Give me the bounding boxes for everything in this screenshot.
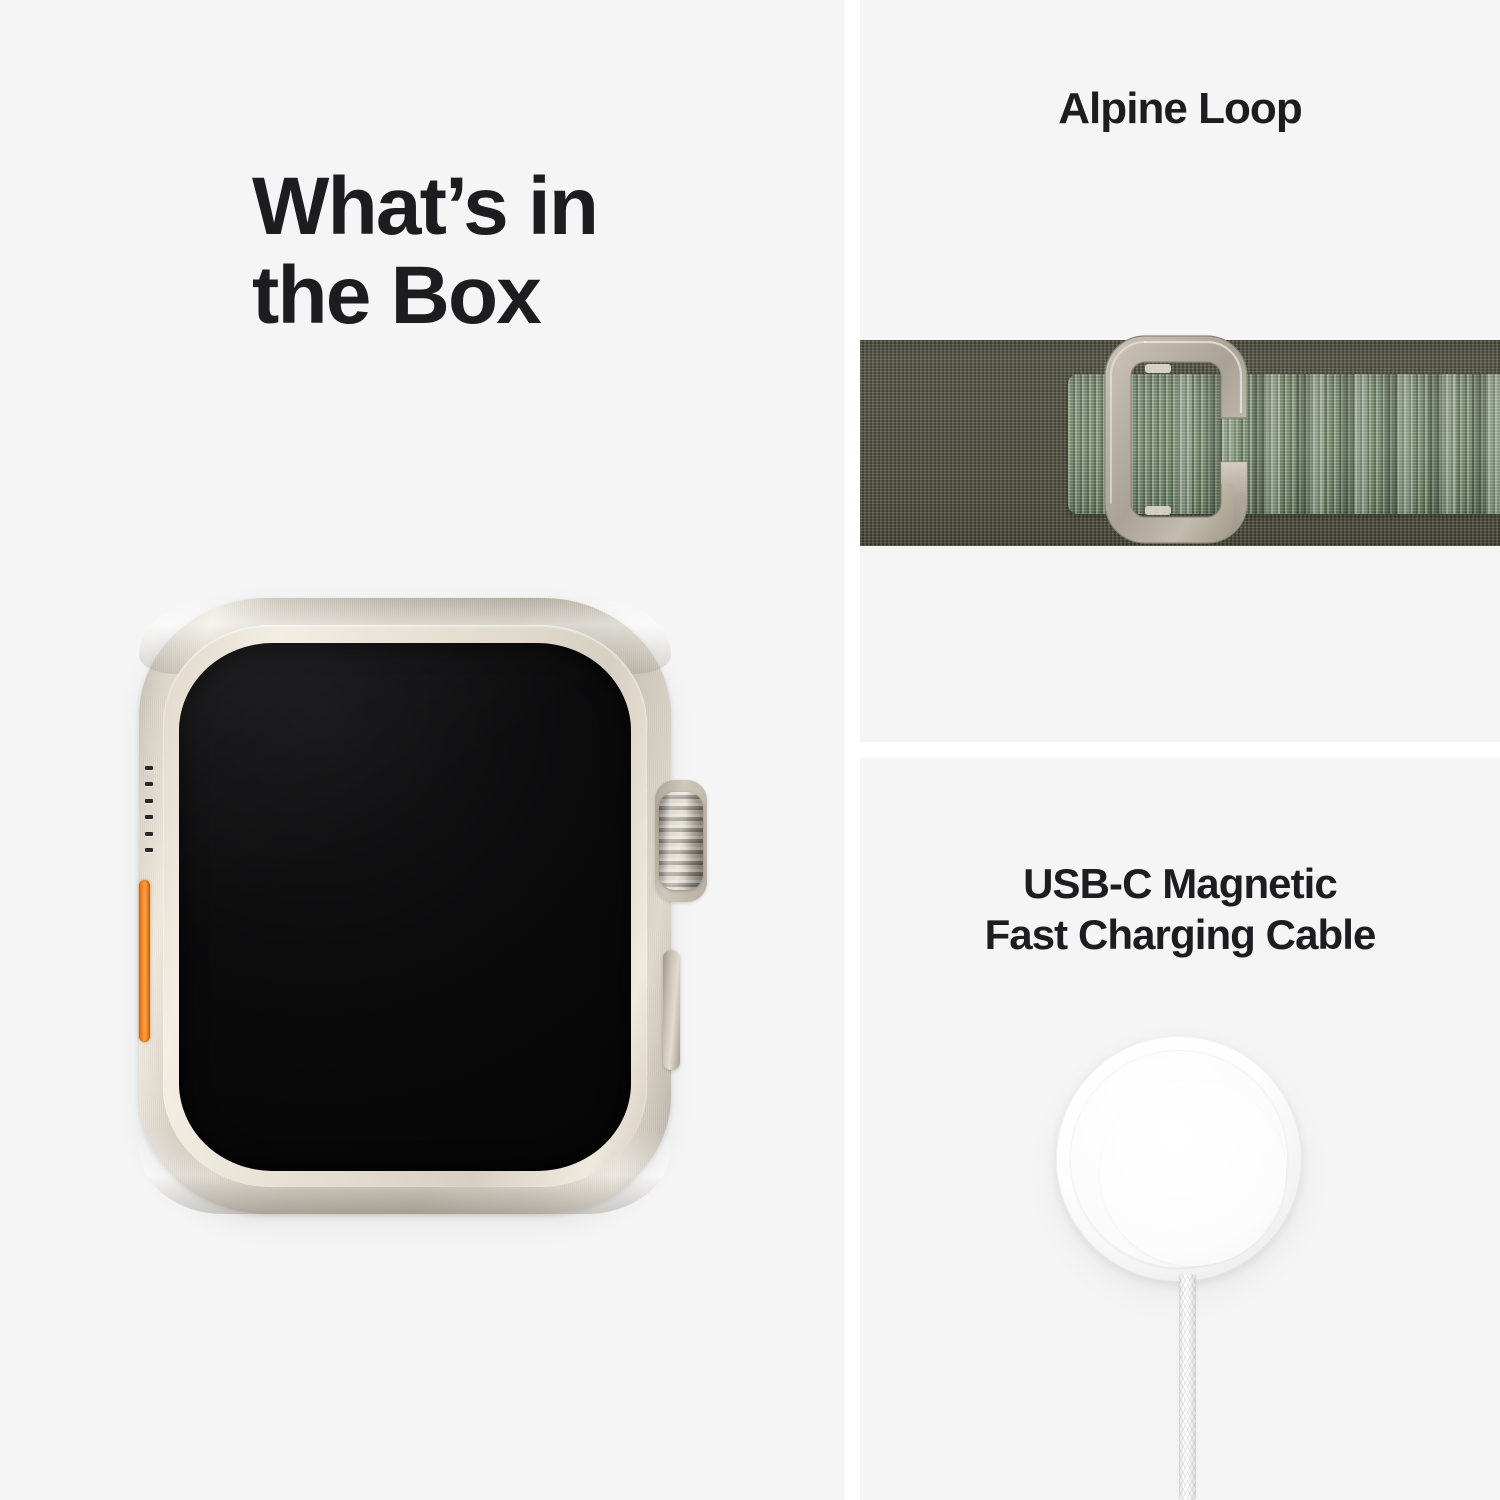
alpine-loop-title: Alpine Loop [860,85,1500,133]
watch-display [179,643,631,1171]
action-button [139,880,150,1042]
panel-usb-c-charging-cable: USB-C Magnetic Fast Charging Cable [860,758,1500,1500]
titanium-g-hook [1101,332,1251,547]
watch-display-glare [179,643,631,1171]
product-gallery: What’s in the Box Al [0,0,1500,1500]
cable-braid-texture [1179,1274,1196,1500]
magnetic-charging-puck [1056,1036,1302,1282]
charging-puck-inner-disc [1100,1080,1286,1266]
panel-whats-in-the-box: What’s in the Box [0,0,845,1500]
braided-charging-cable [1179,1274,1196,1500]
digital-crown-gloss [659,792,703,890]
side-button [663,950,680,1070]
charging-puck-ring [1070,1050,1288,1268]
digital-crown [659,792,703,890]
charging-cable-title: USB-C Magnetic Fast Charging Cable [860,858,1500,960]
apple-watch-ultra-image [131,598,707,1214]
speaker-grille-icon [145,766,154,852]
page-title: What’s in the Box [252,162,597,341]
